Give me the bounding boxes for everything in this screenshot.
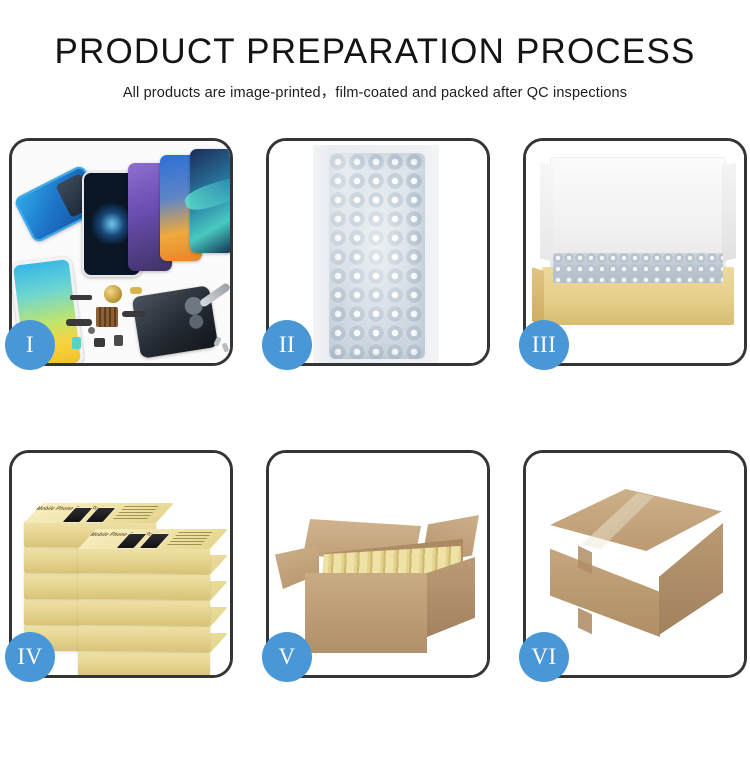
step-panel-1[interactable]: I: [9, 138, 233, 366]
page-header: PRODUCT PREPARATION PROCESS All products…: [0, 0, 750, 102]
step-badge-5: V: [262, 632, 312, 682]
box-tray-kraft: [542, 267, 734, 325]
step-panel-6[interactable]: VI: [523, 450, 747, 678]
step-panel-2[interactable]: II: [266, 138, 490, 366]
small-part-4: [130, 287, 142, 294]
process-steps-grid: I II III: [0, 138, 750, 762]
retail-box: [78, 625, 210, 651]
step-badge-2: II: [262, 320, 312, 370]
carton-left-face: [550, 543, 660, 637]
step-badge-1: I: [5, 320, 55, 370]
flex-cable-right: [122, 311, 146, 317]
phone-teal: [190, 149, 230, 253]
step-badge-4: IV: [5, 632, 55, 682]
carton-handle-tab-bottom: [578, 608, 592, 635]
small-part-1: [72, 337, 81, 349]
page-subtitle: All products are image-printed，film-coat…: [0, 81, 750, 102]
step-panel-4[interactable]: Mobile Phone Spare Parts Mobile Phone Sp…: [9, 450, 233, 678]
retail-box: [78, 651, 210, 675]
small-part-3: [114, 335, 123, 346]
bubble-wrap-item: [329, 153, 425, 359]
small-part-5: [88, 327, 95, 334]
screw-2: [222, 342, 230, 352]
retail-box: [78, 573, 210, 599]
process-row-top: I II III: [0, 138, 750, 378]
step-panel-5[interactable]: V: [266, 450, 490, 678]
flex-cable-left: [66, 319, 92, 326]
step-badge-6: VI: [519, 632, 569, 682]
step-badge-3: III: [519, 320, 569, 370]
chip-grid-part: [96, 307, 118, 327]
page-title: PRODUCT PREPARATION PROCESS: [0, 34, 750, 71]
coil-part: [104, 285, 122, 303]
bubble-wrapped-content: [553, 253, 723, 283]
retail-box-front: Mobile Phone Spare Parts: [78, 547, 210, 573]
process-row-bottom: Mobile Phone Spare Parts Mobile Phone Sp…: [0, 450, 750, 690]
carton-front-panel: [305, 573, 427, 653]
retail-box: [78, 599, 210, 625]
small-part-2: [94, 338, 105, 347]
step-panel-3[interactable]: III: [523, 138, 747, 366]
speaker-part: [70, 295, 92, 300]
box-stack: Mobile Phone Spare Parts Mobile Phone Sp…: [22, 477, 226, 667]
carton-right-face: [659, 523, 723, 635]
